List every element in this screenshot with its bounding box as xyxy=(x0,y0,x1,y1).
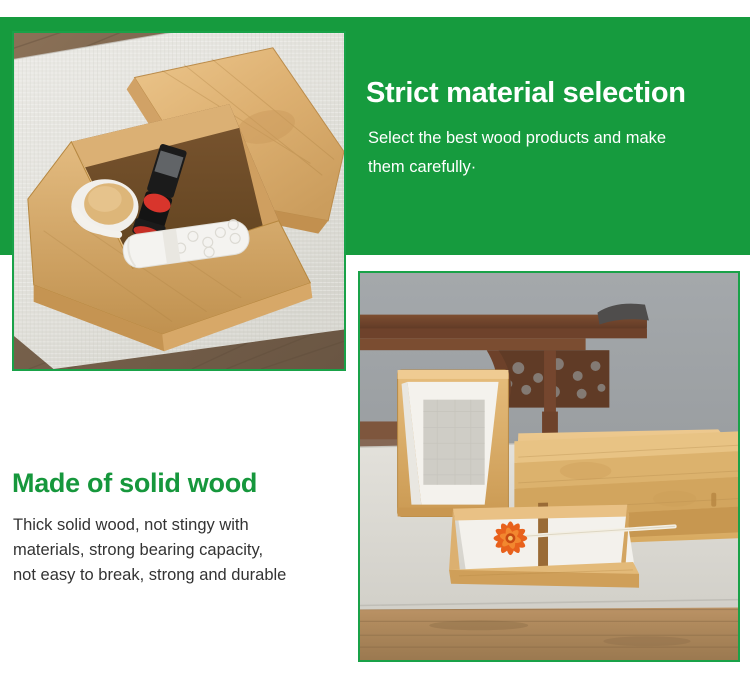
left-body-line3: not easy to break, strong and durable xyxy=(13,563,342,588)
left-body: Thick solid wood, not stingy with materi… xyxy=(13,513,342,587)
banner-heading: Strict material selection xyxy=(366,78,734,110)
banner-subtitle-line1: Select the best wood products and make xyxy=(368,129,666,147)
promo-banner-page: Strict material selection Select the bes… xyxy=(0,0,750,682)
bamboo-gift-box-open-illustration xyxy=(14,33,344,369)
banner-subtitle: Select the best wood products and make t… xyxy=(368,124,713,182)
bamboo-gift-box-open-photo xyxy=(12,31,346,371)
bamboo-box-set-display-photo xyxy=(358,271,740,662)
photo-inner-bottomright xyxy=(360,273,738,660)
left-body-line1: Thick solid wood, not stingy with xyxy=(13,513,342,538)
left-heading: Made of solid wood xyxy=(12,468,342,499)
photo-inner-topleft xyxy=(14,33,344,369)
left-body-line2: materials, strong bearing capacity, xyxy=(13,538,342,563)
left-text-block: Made of solid wood Thick solid wood, not… xyxy=(12,468,342,587)
bamboo-box-set-display-illustration xyxy=(360,273,738,660)
banner-subtitle-line2: them carefully· xyxy=(368,158,476,176)
banner-text-block: Strict material selection Select the bes… xyxy=(366,78,734,182)
